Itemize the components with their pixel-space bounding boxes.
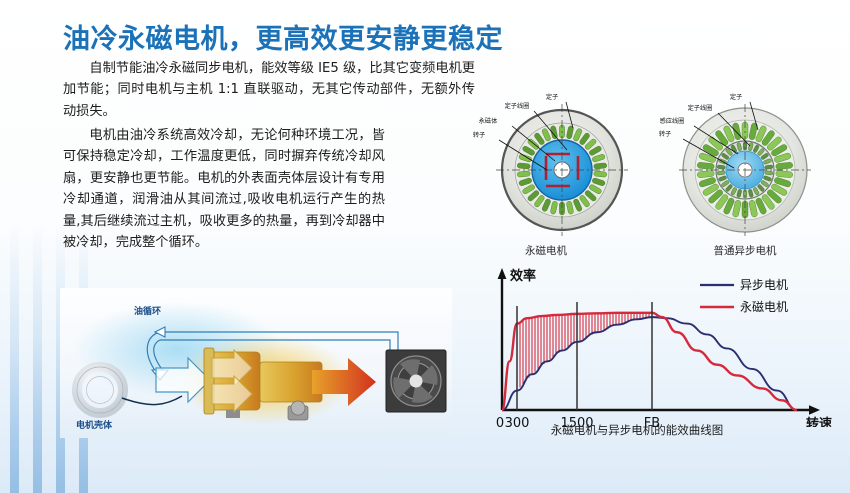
label-stator-coil-pm: 定子线圈 <box>505 102 530 110</box>
label-permanent-magnet-pm: 永磁体 <box>479 117 498 125</box>
label-rotor-pm: 转子 <box>473 131 485 139</box>
chart-series-line <box>502 317 797 410</box>
caption-asynchronous-motor: 普通异步电机 <box>650 243 840 258</box>
label-stator-pm: 定子 <box>546 93 558 101</box>
chart-caption: 永磁电机与异步电机的能效曲线图 <box>462 422 812 438</box>
chart-legend: 异步电机 永磁电机 <box>700 278 788 314</box>
efficiency-chart: 03001500FB 效率 转速 异步电机 永磁电机 永磁电机与异步电机的能效曲… <box>462 262 850 462</box>
stripe-1 <box>10 223 19 493</box>
chart-hatch-region <box>517 313 652 391</box>
slide-root: 油冷永磁电机，更高效更安静更稳定 自制节能油冷永磁同步电机，能效等级 IE5 级… <box>0 0 850 493</box>
async-motor-body <box>679 104 811 236</box>
legend-label-pm: 永磁电机 <box>740 299 788 314</box>
page-title: 油冷永磁电机，更高效更安静更稳定 <box>63 17 503 56</box>
stripe-2 <box>33 223 42 493</box>
chart-ticklines <box>517 302 652 410</box>
label-induction-coil-async: 感应线圈 <box>660 117 685 125</box>
label-stator-async: 定子 <box>730 93 742 101</box>
cooler-fan-unit <box>386 350 446 412</box>
caption-permanent-magnet-motor: 永磁电机 <box>451 243 641 258</box>
diagram-asynchronous-motor: 定子 定子线圈 感应线圈 转子 普通异步电机 <box>650 88 840 268</box>
pm-motor-body <box>496 104 628 236</box>
label-motor-housing: 电机壳体 <box>76 419 113 431</box>
paragraph-cooling: 电机由油冷系统高效冷却，无论何种环境工况，皆可保持稳定冷却，工作温度更低，同时摒… <box>63 125 385 253</box>
oil-circulation-illustration: 油循环 电机壳体 <box>60 288 452 438</box>
label-rotor-async: 转子 <box>659 130 671 138</box>
chart-plot <box>502 313 797 410</box>
motor-diagrams: 定子 定子线圈 永磁体 转子 永磁电机 <box>455 88 845 268</box>
legend-label-async: 异步电机 <box>740 278 788 292</box>
chart-ylabel: 效率 <box>510 268 536 284</box>
label-oil-circulation: 油循环 <box>134 305 161 317</box>
paragraph-intro: 自制节能油冷永磁同步电机，能效等级 IE5 级，比其它变频电机更加节能；同时电机… <box>63 58 475 122</box>
label-stator-coil-async: 定子线圈 <box>688 104 713 112</box>
diagram-permanent-magnet-motor: 定子 定子线圈 永磁体 转子 永磁电机 <box>455 88 645 268</box>
